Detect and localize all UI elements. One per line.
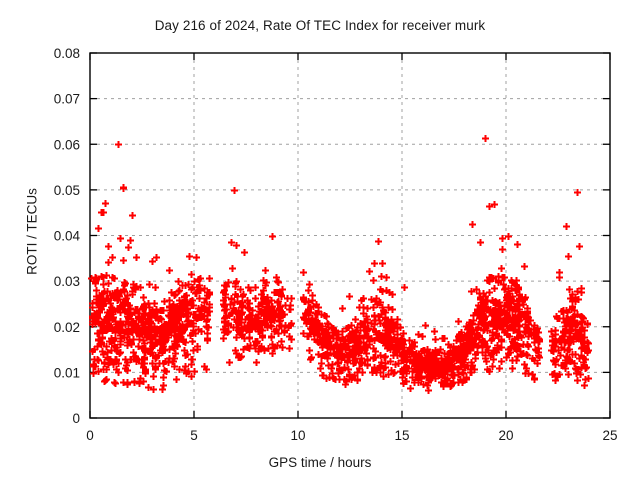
plot-canvas: 051015202500.010.020.030.040.050.060.070…	[0, 0, 640, 480]
y-tick-label: 0.04	[54, 229, 81, 244]
x-tick-label: 5	[190, 428, 198, 443]
y-tick-label: 0.08	[54, 46, 80, 61]
x-tick-label: 0	[86, 428, 94, 443]
y-tick-label: 0.02	[54, 320, 80, 335]
x-tick-label: 25	[602, 428, 617, 443]
y-tick-label: 0.01	[54, 365, 80, 380]
roti-scatter-figure: Day 216 of 2024, Rate Of TEC Index for r…	[0, 0, 640, 480]
y-tick-label: 0.06	[54, 137, 80, 152]
y-tick-label: 0.07	[54, 92, 80, 107]
y-tick-label: 0	[72, 411, 80, 426]
x-tick-label: 15	[394, 428, 409, 443]
y-tick-label: 0.05	[54, 183, 80, 198]
y-tick-label: 0.03	[54, 274, 80, 289]
x-tick-label: 10	[290, 428, 305, 443]
x-tick-label: 20	[498, 428, 513, 443]
data-points	[88, 135, 592, 394]
scatter-markers	[88, 135, 592, 394]
